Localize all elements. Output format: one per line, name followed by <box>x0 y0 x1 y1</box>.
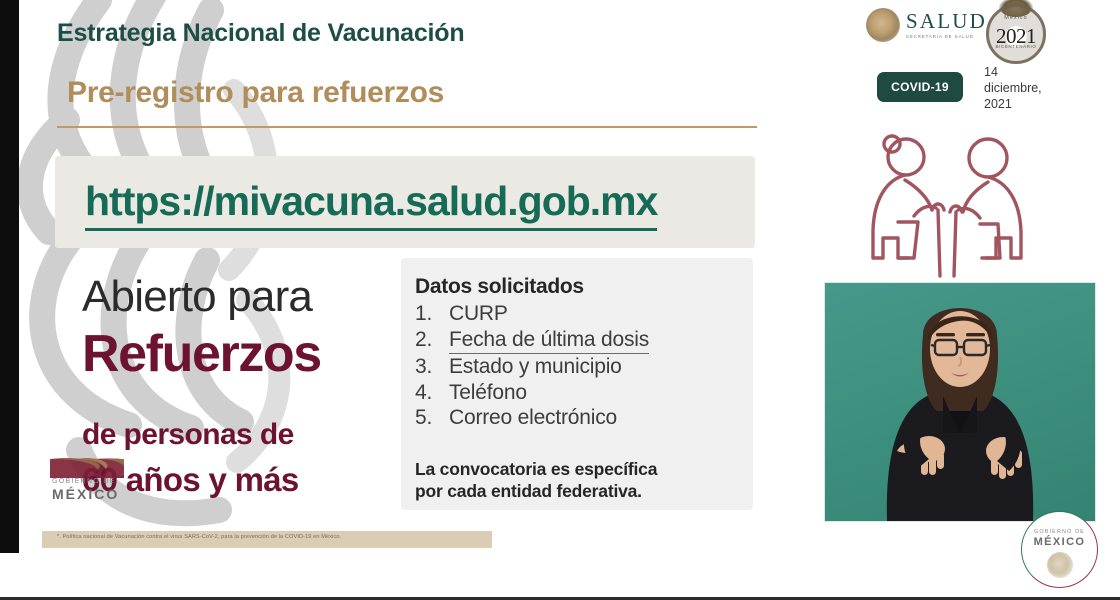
screen-capture: Estrategia Nacional de Vacunación Pre-re… <box>0 0 1120 600</box>
statement-line-3: de personas de <box>82 418 294 452</box>
requested-data-item: 1.CURP <box>415 301 735 327</box>
sign-language-interpreter-video[interactable] <box>825 283 1095 521</box>
vaccination-url-link[interactable]: https://mivacuna.salud.gob.mx <box>85 178 657 231</box>
requested-data-item: 3.Estado y municipio <box>415 354 735 380</box>
requested-data-item: 4.Teléfono <box>415 380 735 406</box>
statement-line-2: Refuerzos <box>82 324 321 384</box>
requested-data-item-label: Estado y municipio <box>449 354 622 380</box>
slide-date: 14 diciembre, 2021 <box>984 64 1054 112</box>
requested-data-list: 1.CURP2.Fecha de última dosis3.Estado y … <box>415 301 735 431</box>
salud-logo-text: SALUD <box>906 11 987 32</box>
footnote-text: *. Política nacional de Vacunación contr… <box>57 534 487 540</box>
salud-logo-subtext: SECRETARÍA DE SALUD <box>906 35 987 39</box>
statement-line-4: 60 años y más <box>82 461 299 499</box>
slide-title: Pre-registro para refuerzos <box>67 76 444 110</box>
requested-data-item-number: 5. <box>415 405 449 431</box>
requested-data-item-number: 1. <box>415 301 449 327</box>
gobierno-mexico-circular-seal: GOBIERNO DE MÉXICO <box>1021 511 1098 588</box>
seal-br-small-text: GOBIERNO DE <box>1022 529 1097 535</box>
requested-data-item-number: 3. <box>415 354 449 380</box>
seal-br-big-text: MÉXICO <box>1022 536 1097 548</box>
convocatoria-note-line-2: por cada entidad federativa. <box>415 481 642 501</box>
requested-data-title: Datos solicitados <box>415 275 584 299</box>
salud-seal-icon <box>866 8 900 42</box>
bicentennial-2021-seal: México 2021 BICENTENARIO <box>986 4 1046 64</box>
seal-top-text: México <box>986 15 1046 21</box>
seal-bottom-text: BICENTENARIO <box>986 44 1046 49</box>
convocatoria-note-line-1: La convocatoria es específica <box>415 459 657 479</box>
slide-left-gutter <box>0 0 19 553</box>
requested-data-item-label: CURP <box>449 301 508 327</box>
convocatoria-note: La convocatoria es específica por cada e… <box>415 458 735 502</box>
requested-data-item: 2.Fecha de última dosis <box>415 327 735 355</box>
header-divider <box>57 126 757 128</box>
requested-data-item-label: Teléfono <box>449 380 527 406</box>
slide-kicker-title: Estrategia Nacional de Vacunación <box>57 19 464 48</box>
elderly-people-illustration <box>848 130 1048 280</box>
requested-data-item-number: 4. <box>415 380 449 406</box>
seal-br-emblem-icon <box>1047 552 1073 578</box>
presentation-slide: Estrategia Nacional de Vacunación Pre-re… <box>0 0 1120 553</box>
covid-19-badge: COVID-19 <box>877 72 963 102</box>
salud-logo: SALUD SECRETARÍA DE SALUD <box>866 8 987 42</box>
requested-data-item-number: 2. <box>415 327 449 355</box>
requested-data-item: 5.Correo electrónico <box>415 405 735 431</box>
requested-data-item-label: Fecha de última dosis <box>449 327 649 355</box>
requested-data-item-label: Correo electrónico <box>449 405 617 431</box>
statement-line-1: Abierto para <box>82 272 312 322</box>
